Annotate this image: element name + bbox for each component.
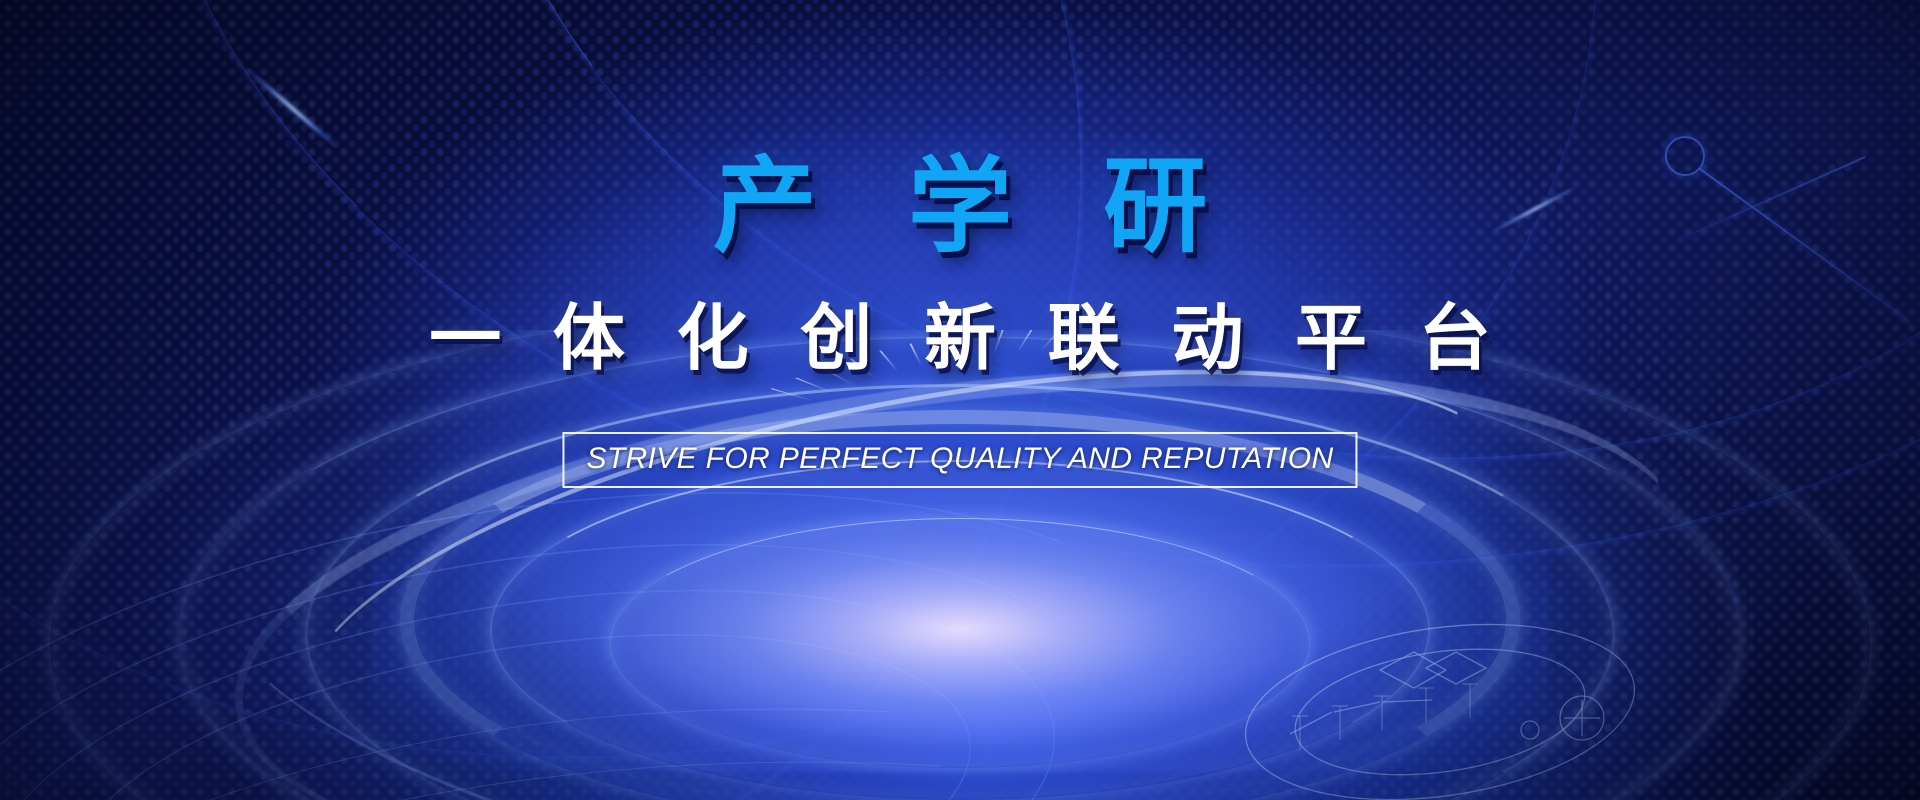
banner-title-sub: 一 体 化 创 新 联 动 平 台 <box>0 300 1920 379</box>
banner-content: 产 学 研 一 体 化 创 新 联 动 平 台 STRIVE FOR PERFE… <box>0 0 1920 800</box>
banner-title-main: 产 学 研 <box>0 152 1920 262</box>
banner-tagline-wrapper: STRIVE FOR PERFECT QUALITY AND REPUTATIO… <box>562 432 1357 488</box>
hero-banner: 产 学 研 一 体 化 创 新 联 动 平 台 STRIVE FOR PERFE… <box>0 0 1920 800</box>
banner-tagline: STRIVE FOR PERFECT QUALITY AND REPUTATIO… <box>562 432 1357 488</box>
